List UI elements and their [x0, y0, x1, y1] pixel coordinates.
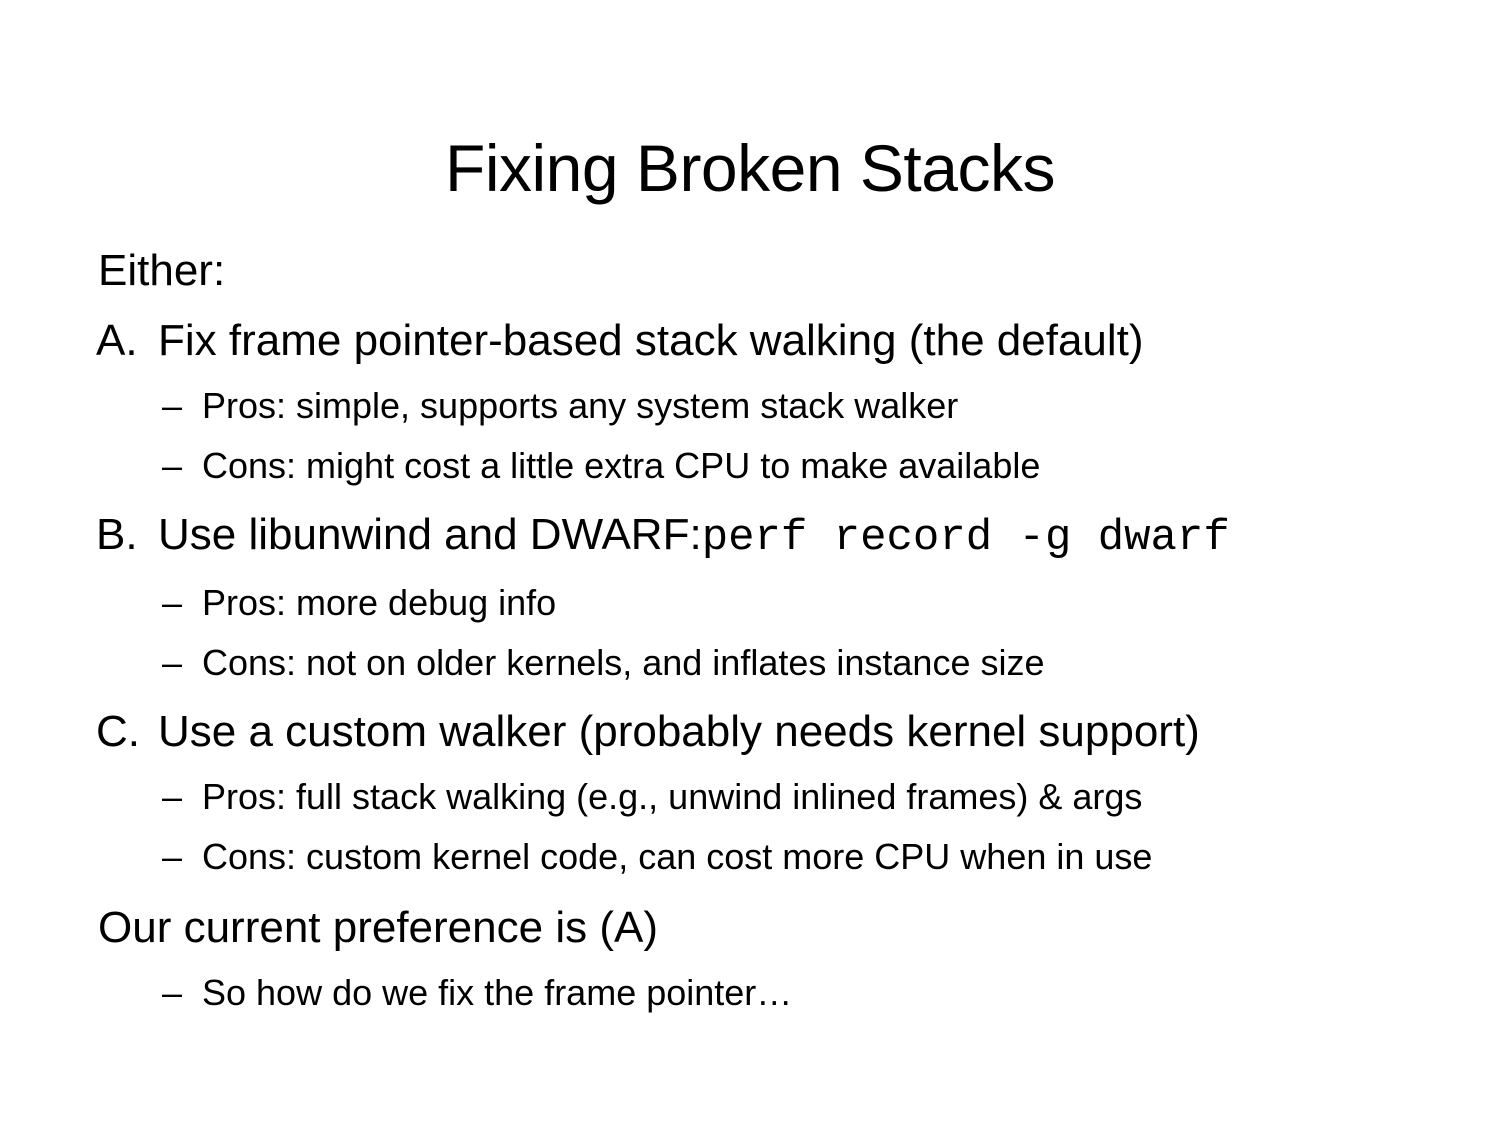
list-item-c: C. Use a custom walker (probably needs k… — [96, 701, 1436, 763]
en-dash-icon: – — [162, 827, 202, 887]
list-marker-c: C. — [96, 701, 158, 763]
list-text-a: Fix frame pointer-based stack walking (t… — [158, 310, 1144, 372]
list-text-c: Use a custom walker (probably needs kern… — [158, 701, 1200, 763]
en-dash-icon: – — [162, 767, 202, 827]
en-dash-icon: – — [162, 963, 202, 1023]
page-title: Fixing Broken Stacks — [0, 130, 1500, 206]
en-dash-icon: – — [162, 376, 202, 436]
sub-item-c2-text: Cons: custom kernel code, can cost more … — [202, 827, 1152, 887]
conclusion-line: Our current preference is (A) — [98, 897, 1436, 959]
sub-item-c2: – Cons: custom kernel code, can cost mor… — [96, 827, 1436, 887]
sub-item-b1: – Pros: more debug info — [96, 573, 1436, 633]
list-marker-b: B. — [96, 504, 158, 566]
list-text-b: Use libunwind and DWARF: — [158, 504, 702, 566]
slide-body: Either: A. Fix frame pointer-based stack… — [96, 240, 1436, 1023]
slide-canvas: Fixing Broken Stacks Either: A. Fix fram… — [0, 0, 1500, 1125]
sub-item-b2: – Cons: not on older kernels, and inflat… — [96, 633, 1436, 693]
conclusion-sub-item: – So how do we fix the frame pointer… — [96, 963, 1436, 1023]
sub-item-a1: – Pros: simple, supports any system stac… — [96, 376, 1436, 436]
sub-item-a1-text: Pros: simple, supports any system stack … — [202, 376, 958, 436]
en-dash-icon: – — [162, 633, 202, 693]
sub-item-c1-text: Pros: full stack walking (e.g., unwind i… — [202, 767, 1142, 827]
sub-item-a2: – Cons: might cost a little extra CPU to… — [96, 436, 1436, 496]
conclusion-sub-text: So how do we fix the frame pointer… — [202, 963, 792, 1023]
intro-line: Either: — [98, 240, 1436, 302]
list-item-b: B. Use libunwind and DWARF: perf record … — [96, 504, 1436, 569]
sub-item-b2-text: Cons: not on older kernels, and inflates… — [202, 633, 1044, 693]
en-dash-icon: – — [162, 573, 202, 633]
sub-item-b1-text: Pros: more debug info — [202, 573, 556, 633]
list-item-a: A. Fix frame pointer-based stack walking… — [96, 310, 1436, 372]
code-perf-record: perf record -g dwarf — [702, 507, 1230, 569]
sub-item-c1: – Pros: full stack walking (e.g., unwind… — [96, 767, 1436, 827]
sub-item-a2-text: Cons: might cost a little extra CPU to m… — [202, 436, 1040, 496]
list-marker-a: A. — [96, 310, 158, 372]
en-dash-icon: – — [162, 436, 202, 496]
